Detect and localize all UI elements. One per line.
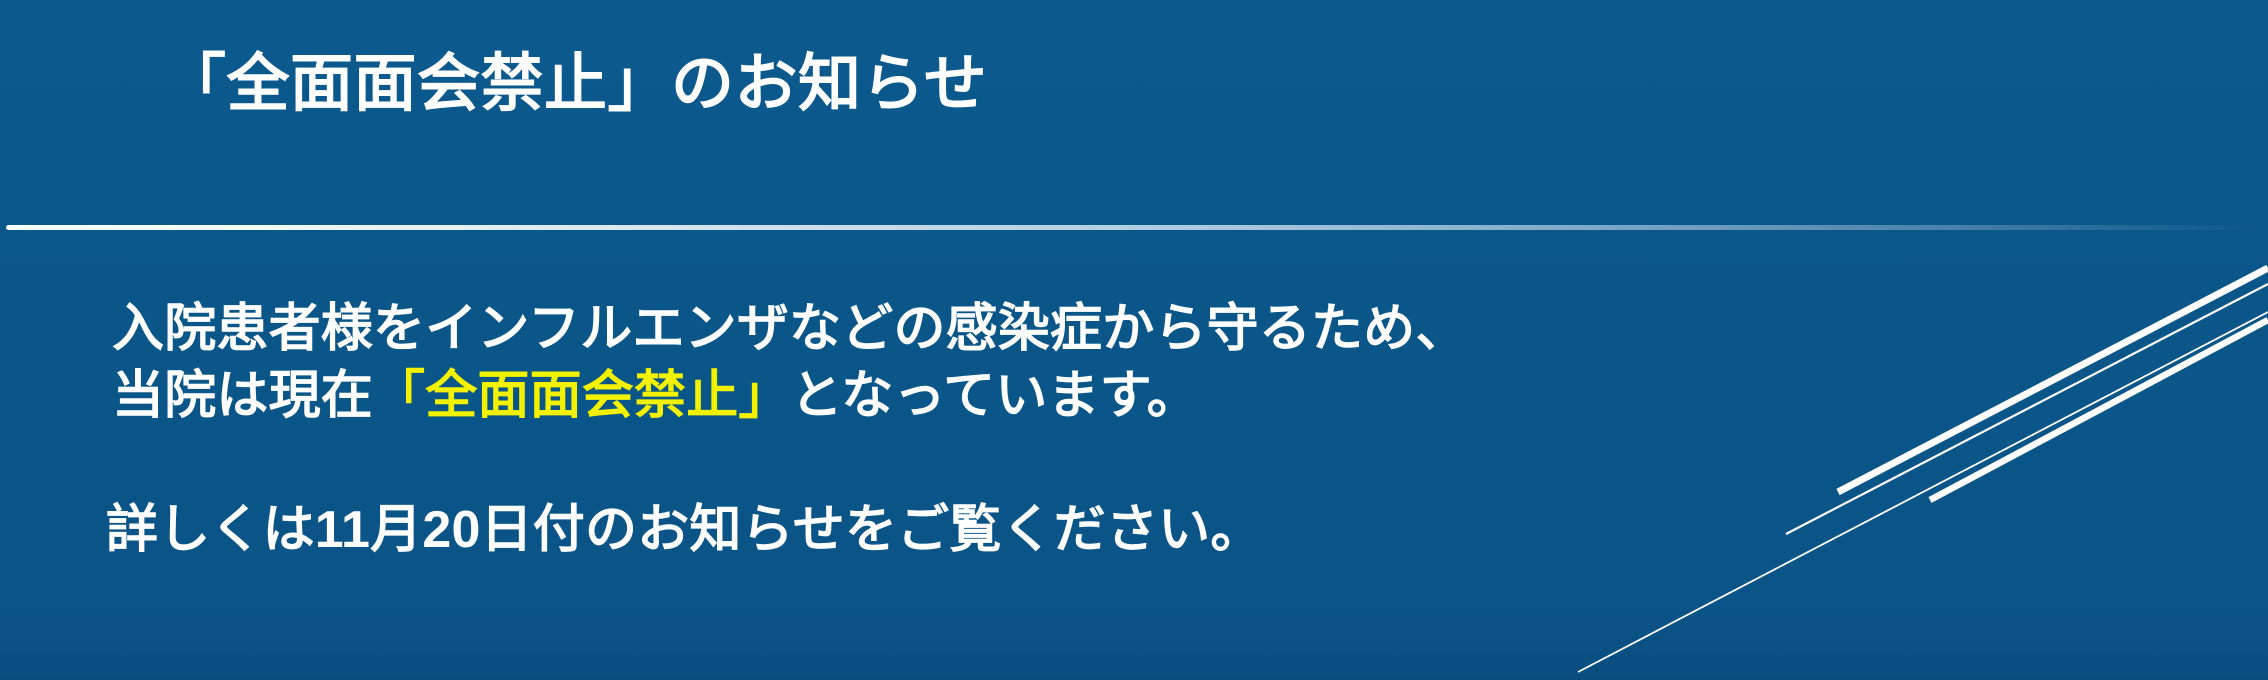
notice-banner: 「全面面会禁止」のお知らせ 入院患者様をインフルエンザなどの感染症から守るため、… — [0, 0, 2268, 680]
notice-line-2-prefix: 当院は現在 — [112, 367, 373, 425]
notice-body: 入院患者様をインフルエンザなどの感染症から守るため、 当院は現在「全面面会禁止」… — [106, 296, 1468, 564]
notice-line-1: 入院患者様をインフルエンザなどの感染症から守るため、 — [112, 300, 1468, 358]
page-title: 「全面面会禁止」のお知らせ — [163, 48, 987, 120]
notice-highlight-text: 「全面面会禁止」 — [373, 367, 791, 425]
notice-paragraph-2: 詳しくは11月20日付のお知らせをご覧ください。 — [106, 497, 1468, 564]
header-divider — [6, 225, 2264, 230]
notice-paragraph-1: 入院患者様をインフルエンザなどの感染症から守るため、 当院は現在「全面面会禁止」… — [112, 296, 1468, 429]
notice-line-2-suffix: となっています。 — [791, 367, 1199, 425]
